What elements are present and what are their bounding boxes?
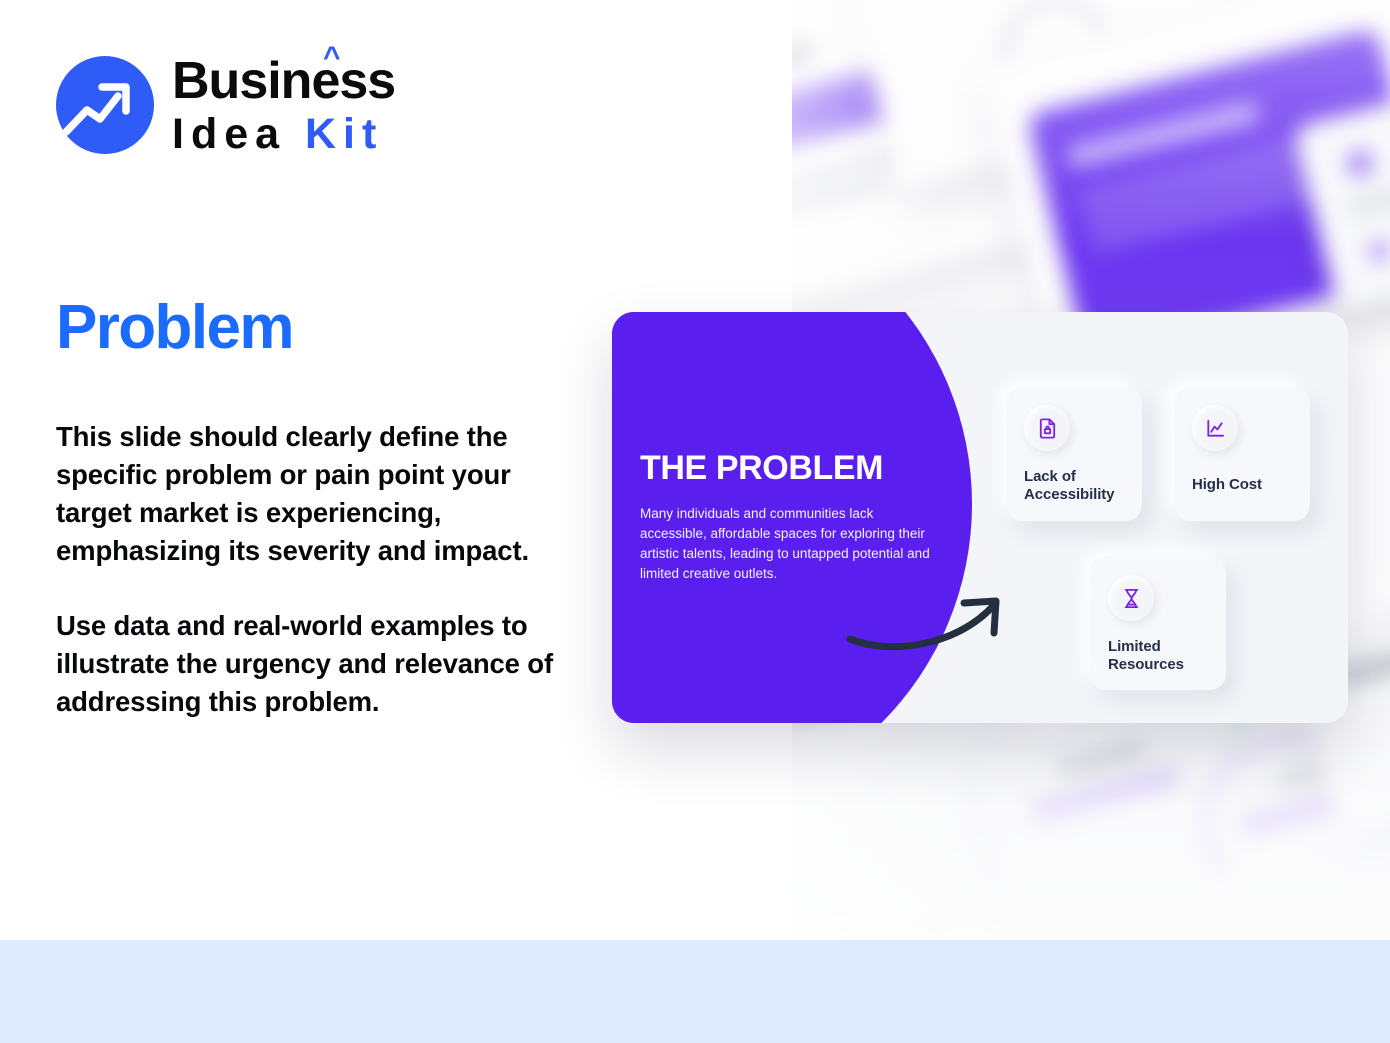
problem-tile-high-cost[interactable]: High Cost (1174, 388, 1310, 521)
line-chart-icon (1192, 405, 1238, 451)
problem-tile-limited-resources[interactable]: Limited Resources (1090, 557, 1226, 690)
preview-text-block: THE PROBLEM Many individuals and communi… (630, 312, 940, 723)
body-paragraph-1: This slide should clearly define the spe… (56, 418, 566, 570)
problem-tile-label: Lack of Accessibility (1024, 468, 1124, 504)
brand-line-1: Business ^ (172, 55, 395, 107)
preview-title: THE PROBLEM (640, 451, 940, 485)
page-title: Problem (56, 297, 293, 359)
hourglass-icon (1108, 575, 1154, 621)
body-paragraph-2: Use data and real-world examples to illu… (56, 607, 566, 721)
slide-preview-card[interactable]: THE PROBLEM Many individuals and communi… (612, 312, 1348, 723)
slide-root: Business ^ Idea Kit Problem This slide s… (0, 0, 1390, 1043)
brand-line-2: Idea Kit (172, 113, 395, 156)
brand-accent-caret-icon: ^ (323, 43, 340, 73)
brand-logo: Business ^ Idea Kit (56, 55, 395, 155)
brand-wordmark: Business ^ Idea Kit (172, 55, 395, 156)
brand-name-secondary: Idea (172, 110, 286, 158)
document-lock-icon (1024, 405, 1070, 451)
brand-name-primary: Business (172, 52, 395, 110)
body-copy: This slide should clearly define the spe… (56, 418, 566, 722)
problem-tile-label: High Cost (1192, 476, 1292, 494)
bottom-accent-band (0, 940, 1390, 1043)
problem-tile-label: Limited Resources (1108, 638, 1208, 674)
brand-name-accent: Kit (305, 110, 383, 158)
growth-arrow-circle-icon (56, 56, 154, 154)
problem-tile-accessibility[interactable]: Lack of Accessibility (1006, 388, 1142, 521)
curved-arrow-up-right-icon (844, 589, 1014, 656)
preview-description: Many individuals and communities lack ac… (640, 504, 932, 585)
